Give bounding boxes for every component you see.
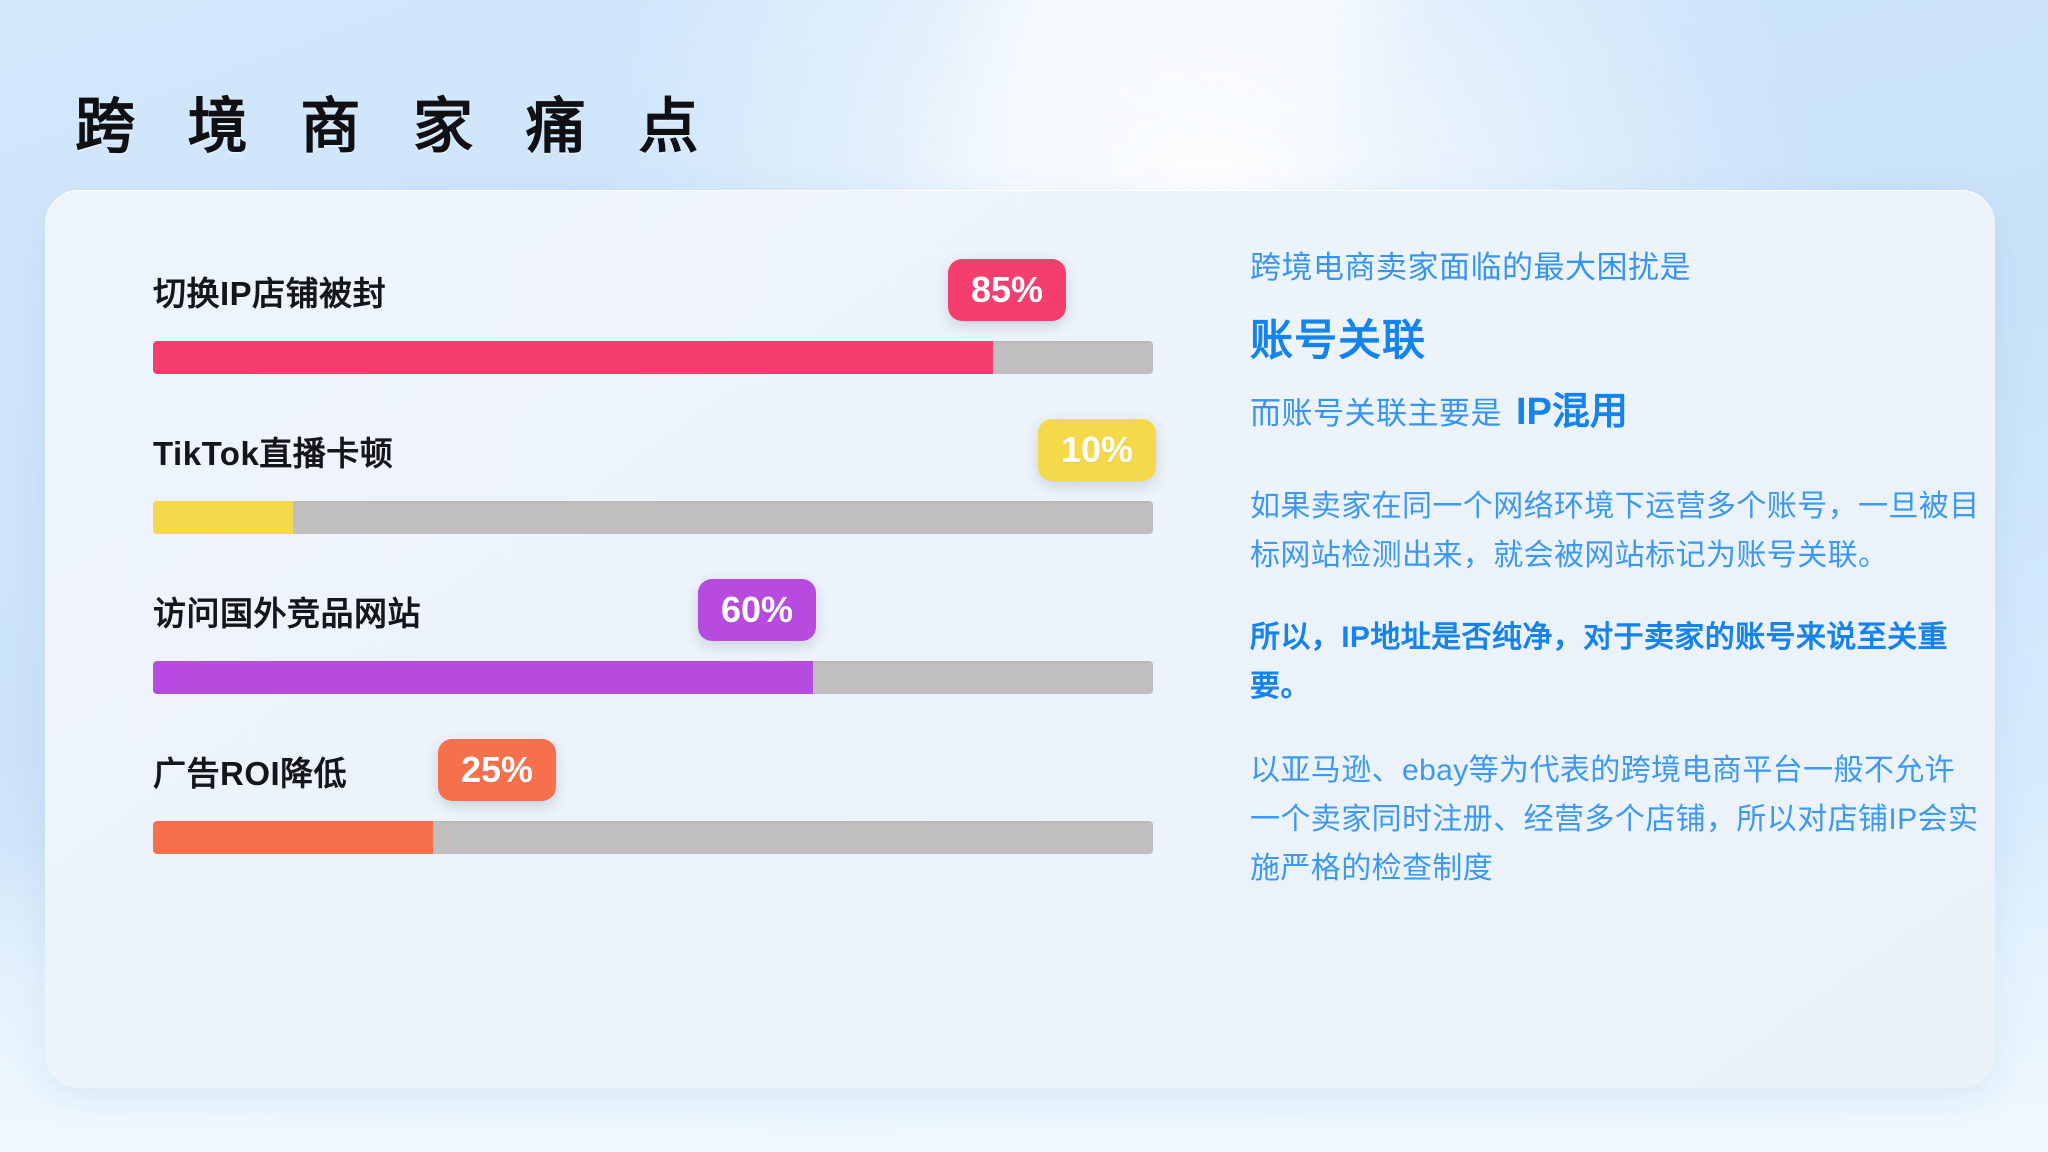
intro-line: 跨境电商卖家面临的最大困扰是 — [1250, 245, 1980, 292]
bar-category-label: 广告ROI降低 — [153, 747, 347, 795]
chart-row-header: 切换IP店铺被封85% — [108, 245, 1168, 323]
bar-category-label: 访问国外竞品网站 — [153, 587, 421, 635]
spacer-2 — [1250, 580, 1980, 614]
bar-fill — [153, 341, 993, 374]
pain-point-bar-chart: 切换IP店铺被封85%TikTok直播卡顿10%访问国外竞品网站60%广告ROI… — [108, 245, 1168, 1035]
spacer-1 — [1250, 437, 1980, 483]
bar-value-badge: 10% — [1038, 419, 1156, 481]
bar-fill — [153, 821, 433, 854]
chart-row: 访问国外竞品网站60% — [108, 565, 1168, 710]
bar-track — [153, 341, 1153, 374]
bar-track — [153, 501, 1153, 534]
paragraph-1: 如果卖家在同一个网络环境下运营多个账号，一旦被目标网站检测出来，就会被网站标记为… — [1250, 483, 1980, 580]
mix-keyword: IP混用 — [1516, 380, 1628, 435]
paragraph-2: 所以，IP地址是否纯净，对于卖家的账号来说至关重要。 — [1250, 614, 1980, 711]
mix-prefix: 而账号关联主要是 — [1250, 391, 1502, 438]
hero-keyword: 账号关联 — [1250, 306, 1980, 368]
bar-category-label: 切换IP店铺被封 — [153, 267, 386, 315]
spacer-3 — [1250, 711, 1980, 747]
bar-track — [153, 821, 1153, 854]
mix-line: 而账号关联主要是 IP混用 — [1250, 380, 1980, 438]
bar-category-label: TikTok直播卡顿 — [153, 427, 393, 475]
chart-row-header: 广告ROI降低25% — [108, 725, 1168, 803]
page-title: 跨 境 商 家 痛 点 — [75, 78, 716, 165]
chart-row: 切换IP店铺被封85% — [108, 245, 1168, 390]
bar-value-badge: 85% — [948, 259, 1066, 321]
content-card: 切换IP店铺被封85%TikTok直播卡顿10%访问国外竞品网站60%广告ROI… — [45, 190, 1995, 1088]
bar-value-badge: 60% — [698, 579, 816, 641]
paragraph-3: 以亚马逊、ebay等为代表的跨境电商平台一般不允许一个卖家同时注册、经营多个店铺… — [1250, 747, 1980, 893]
bar-value-badge: 25% — [438, 739, 556, 801]
chart-row: 广告ROI降低25% — [108, 725, 1168, 870]
bar-track — [153, 661, 1153, 694]
chart-row-header: TikTok直播卡顿10% — [108, 405, 1168, 483]
bar-fill — [153, 661, 813, 694]
bar-fill — [153, 501, 293, 534]
chart-row-header: 访问国外竞品网站60% — [108, 565, 1168, 643]
chart-row: TikTok直播卡顿10% — [108, 405, 1168, 550]
explanation-panel: 跨境电商卖家面临的最大困扰是 账号关联 而账号关联主要是 IP混用 如果卖家在同… — [1250, 245, 1980, 1035]
